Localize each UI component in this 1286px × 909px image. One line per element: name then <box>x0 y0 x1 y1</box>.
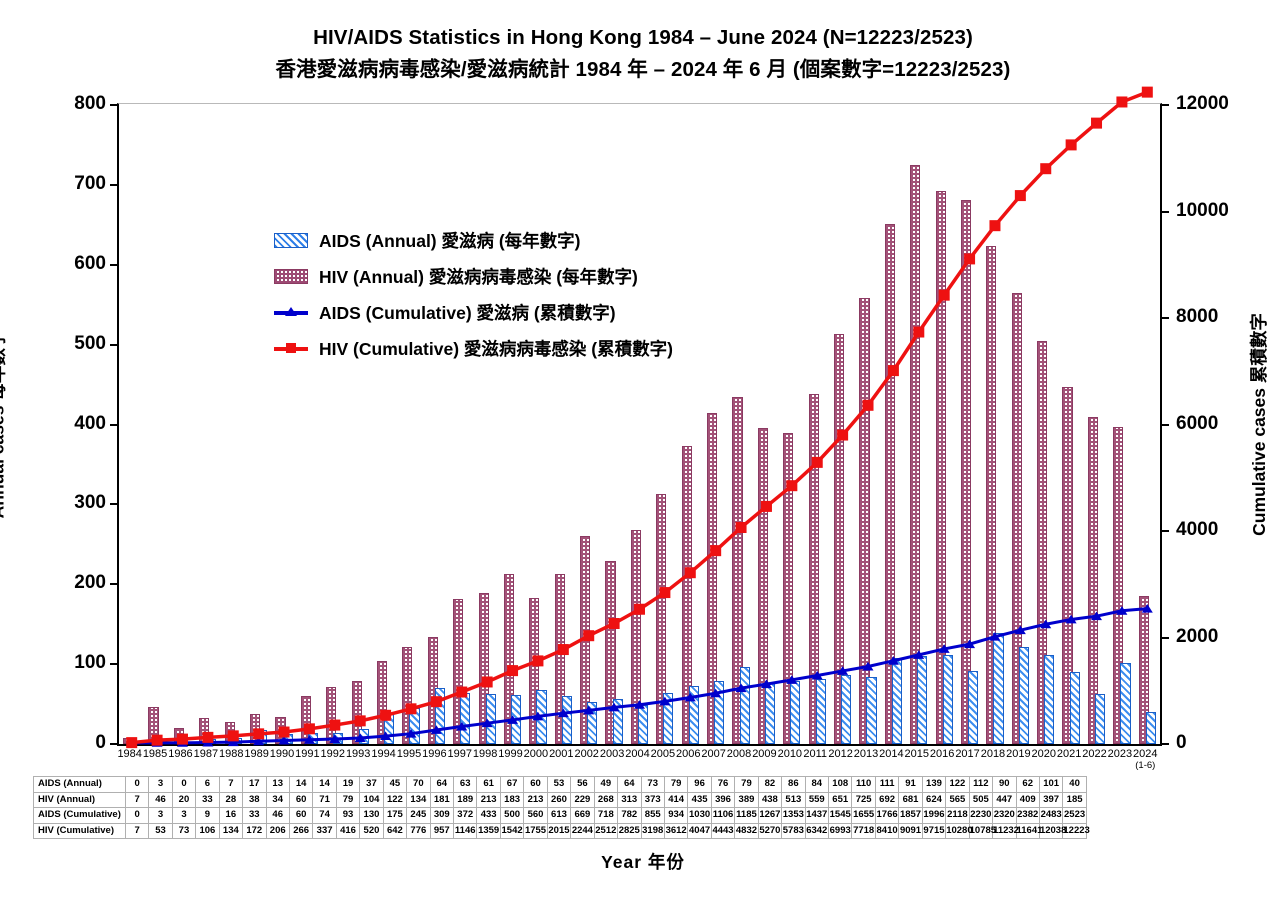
table-row: HIV (Cumulative)753731061341722062663374… <box>34 823 1087 839</box>
x-axis-tick-label: 2009 <box>752 748 777 760</box>
table-cell: 106 <box>196 823 219 839</box>
marker-hiv-cumulative <box>710 545 721 556</box>
table-cell: 1267 <box>758 808 781 824</box>
table-cell: 46 <box>149 792 172 808</box>
table-cell: 84 <box>805 777 828 793</box>
table-cell: 372 <box>454 808 477 824</box>
table-cell: 19 <box>336 777 359 793</box>
table-cell: 624 <box>922 792 945 808</box>
x-axis-tick-label: 1986 <box>168 748 193 760</box>
table-cell: 1542 <box>500 823 523 839</box>
table-cell: 134 <box>407 792 430 808</box>
marker-hiv-cumulative <box>761 501 772 512</box>
table-cell: 7 <box>125 823 148 839</box>
marker-hiv-cumulative <box>685 567 696 578</box>
lines-layer <box>119 104 1160 743</box>
table-cell: 3 <box>172 808 195 824</box>
x-axis-tick-label: 2005 <box>650 748 675 760</box>
marker-hiv-cumulative <box>888 365 899 376</box>
chart-legend: AIDS (Annual) 愛滋病 (每年數字)HIV (Annual) 愛滋病… <box>274 228 673 361</box>
table-cell: 63 <box>454 777 477 793</box>
table-cell: 2382 <box>1016 808 1039 824</box>
x-axis-tick-label: 2014 <box>879 748 904 760</box>
table-cell: 38 <box>243 792 266 808</box>
x-axis-tick-label: 2021 <box>1056 748 1081 760</box>
marker-hiv-cumulative <box>329 720 340 731</box>
table-cell: 505 <box>969 792 992 808</box>
table-cell: 245 <box>407 808 430 824</box>
table-cell: 73 <box>641 777 664 793</box>
legend-label: AIDS (Cumulative) 愛滋病 (累積數字) <box>319 300 616 325</box>
table-cell: 957 <box>430 823 453 839</box>
table-cell: 60 <box>524 777 547 793</box>
y-axis-right-tick: 6000 <box>1160 413 1260 435</box>
x-axis-tick-label: 1985 <box>142 748 167 760</box>
x-axis-tick-label: 2017 <box>955 748 980 760</box>
x-axis-tick-label: 2007 <box>701 748 726 760</box>
table-cell: 7 <box>125 792 148 808</box>
table-cell: 7718 <box>852 823 875 839</box>
y-axis-right-tick: 12000 <box>1160 93 1260 115</box>
table-row: HIV (Annual)7462033283834607179104122134… <box>34 792 1087 808</box>
table-cell: 651 <box>829 792 852 808</box>
table-cell: 33 <box>243 808 266 824</box>
marker-hiv-cumulative <box>355 715 366 726</box>
table-cell: 56 <box>571 777 594 793</box>
table-cell: 692 <box>875 792 898 808</box>
table-cell: 20 <box>172 792 195 808</box>
table-cell: 396 <box>711 792 734 808</box>
table-cell: 681 <box>899 792 922 808</box>
table-cell: 2230 <box>969 808 992 824</box>
marker-hiv-cumulative <box>1142 87 1153 98</box>
marker-hiv-cumulative <box>1116 96 1127 107</box>
table-cell: 213 <box>477 792 500 808</box>
table-cell: 1359 <box>477 823 500 839</box>
marker-hiv-cumulative <box>279 727 290 738</box>
table-cell: 71 <box>313 792 336 808</box>
table-cell: 17 <box>243 777 266 793</box>
table-cell: 934 <box>664 808 687 824</box>
x-axis-tick-label: 1992 <box>320 748 345 760</box>
table-cell: 2483 <box>1039 808 1062 824</box>
marker-hiv-cumulative <box>659 587 670 598</box>
table-cell: 0 <box>125 777 148 793</box>
table-cell: 175 <box>383 808 406 824</box>
table-cell: 90 <box>993 777 1016 793</box>
x-axis-tick-label: 2022 <box>1082 748 1107 760</box>
table-cell: 389 <box>735 792 758 808</box>
table-cell: 0 <box>172 777 195 793</box>
x-axis-tick-label: 2016 <box>929 748 954 760</box>
y-axis-left-tick: 800 <box>33 93 119 115</box>
table-cell: 373 <box>641 792 664 808</box>
table-cell: 45 <box>383 777 406 793</box>
table-cell: 642 <box>383 823 406 839</box>
marker-hiv-cumulative <box>558 644 569 655</box>
table-cell: 108 <box>829 777 852 793</box>
y-axis-left-tick: 400 <box>33 413 119 435</box>
table-cell: 565 <box>946 792 969 808</box>
table-cell: 101 <box>1039 777 1062 793</box>
x-axis-tick-labels: 1984198519861987198819891990199119921993… <box>117 748 1162 776</box>
table-cell: 416 <box>336 823 359 839</box>
table-cell: 776 <box>407 823 430 839</box>
table-cell: 1030 <box>688 808 711 824</box>
table-cell: 2015 <box>547 823 570 839</box>
x-axis-tick-label: 2012 <box>828 748 853 760</box>
table-cell: 500 <box>500 808 523 824</box>
table-cell: 433 <box>477 808 500 824</box>
table-cell: 513 <box>782 792 805 808</box>
table-cell: 76 <box>711 777 734 793</box>
x-axis-tick-label: 1989 <box>244 748 269 760</box>
marker-hiv-cumulative <box>482 676 493 687</box>
table-cell: 520 <box>360 823 383 839</box>
x-axis-tick-label: 1987 <box>193 748 218 760</box>
table-cell: 4832 <box>735 823 758 839</box>
table-cell: 1545 <box>829 808 852 824</box>
legend-label: HIV (Annual) 愛滋病病毒感染 (每年數字) <box>319 264 638 289</box>
y-axis-right-tick: 4000 <box>1160 519 1260 541</box>
marker-hiv-cumulative <box>634 604 645 615</box>
line-hiv-cumulative <box>132 92 1148 743</box>
table-cell: 669 <box>571 808 594 824</box>
legend-item-hiv-annual: HIV (Annual) 愛滋病病毒感染 (每年數字) <box>274 264 673 289</box>
table-cell: 79 <box>336 792 359 808</box>
table-cell: 53 <box>149 823 172 839</box>
x-axis-tick-label: 2011 <box>803 748 828 760</box>
table-cell: 3 <box>149 808 172 824</box>
table-cell: 4047 <box>688 823 711 839</box>
y-axis-left-label-text: Annual cases 每年數字 <box>0 331 10 519</box>
table-cell: 414 <box>664 792 687 808</box>
marker-hiv-cumulative <box>456 687 467 698</box>
table-cell: 447 <box>993 792 1016 808</box>
table-cell: 1996 <box>922 808 945 824</box>
table-cell: 64 <box>618 777 641 793</box>
x-axis-tick-label: 2004 <box>625 748 650 760</box>
marker-hiv-cumulative <box>609 618 620 629</box>
table-row: AIDS (Cumulative)03391633466074931301752… <box>34 808 1087 824</box>
table-cell: 1106 <box>711 808 734 824</box>
table-cell: 189 <box>454 792 477 808</box>
x-axis-tick-label: 1988 <box>219 748 244 760</box>
table-cell: 9 <box>196 808 219 824</box>
legend-item-aids-annual: AIDS (Annual) 愛滋病 (每年數字) <box>274 228 673 253</box>
marker-hiv-cumulative <box>1091 118 1102 129</box>
marker-hiv-cumulative <box>989 220 1000 231</box>
y-axis-right-tick: 10000 <box>1160 200 1260 222</box>
marker-hiv-cumulative <box>380 710 391 721</box>
x-axis-tick-label: 2023 <box>1107 748 1132 760</box>
purple-check-swatch <box>274 269 308 284</box>
table-cell: 5270 <box>758 823 781 839</box>
table-cell: 28 <box>219 792 242 808</box>
chart-title-block: HIV/AIDS Statistics in Hong Kong 1984 – … <box>0 24 1286 85</box>
table-cell: 134 <box>219 823 242 839</box>
marker-hiv-cumulative <box>736 522 747 533</box>
legend-label: HIV (Cumulative) 愛滋病病毒感染 (累積數字) <box>319 336 673 361</box>
y-axis-right-tick: 2000 <box>1160 626 1260 648</box>
y-axis-right-tick: 0 <box>1160 732 1260 754</box>
x-axis-tick-label: 1991 <box>295 748 320 760</box>
table-cell: 2825 <box>618 823 641 839</box>
table-cell: 266 <box>289 823 312 839</box>
x-axis-tick-label: 2001 <box>549 748 574 760</box>
marker-hiv-cumulative <box>431 696 442 707</box>
y-axis-left-tick: 100 <box>33 652 119 674</box>
x-axis-label: Year 年份 <box>0 849 1286 874</box>
table-cell: 79 <box>664 777 687 793</box>
table-cell: 139 <box>922 777 945 793</box>
marker-hiv-cumulative <box>913 327 924 338</box>
table-cell: 60 <box>289 808 312 824</box>
table-cell: 9091 <box>899 823 922 839</box>
x-axis-tick-label: 2013 <box>853 748 878 760</box>
table-cell: 112 <box>969 777 992 793</box>
x-axis-tick-label: 2002 <box>574 748 599 760</box>
table-cell: 559 <box>805 792 828 808</box>
table-cell: 60 <box>289 792 312 808</box>
table-cell: 10785 <box>969 823 992 839</box>
table-cell: 1655 <box>852 808 875 824</box>
table-cell: 10280 <box>946 823 969 839</box>
marker-hiv-cumulative <box>863 400 874 411</box>
table-cell: 74 <box>313 808 336 824</box>
table-cell: 12223 <box>1063 823 1086 839</box>
marker-hiv-cumulative <box>1040 163 1051 174</box>
table-cell: 309 <box>430 808 453 824</box>
marker-hiv-cumulative <box>507 665 518 676</box>
table-cell: 9715 <box>922 823 945 839</box>
marker-hiv-cumulative <box>126 737 137 748</box>
marker-hiv-cumulative <box>812 457 823 468</box>
table-cell: 725 <box>852 792 875 808</box>
table-cell: 7 <box>219 777 242 793</box>
marker-hiv-cumulative <box>532 655 543 666</box>
x-axis-tick-label: 1997 <box>447 748 472 760</box>
x-axis-tick-label: 2006 <box>676 748 701 760</box>
legend-item-aids-cumulative: AIDS (Cumulative) 愛滋病 (累積數字) <box>274 300 673 325</box>
x-axis-tick-label: 2018 <box>980 748 1005 760</box>
table-cell: 181 <box>430 792 453 808</box>
table-cell: 37 <box>360 777 383 793</box>
x-axis-tick-label: 2010 <box>777 748 802 760</box>
plot-frame: 0100200300400500600700800 02000400060008… <box>117 103 1162 746</box>
table-cell: 70 <box>407 777 430 793</box>
table-cell: 62 <box>1016 777 1039 793</box>
table-row-header: AIDS (Cumulative) <box>34 808 126 824</box>
table-cell: 560 <box>524 808 547 824</box>
x-axis-tick-label: 2008 <box>726 748 751 760</box>
table-cell: 13 <box>266 777 289 793</box>
table-cell: 1766 <box>875 808 898 824</box>
table-cell: 268 <box>594 792 617 808</box>
marker-hiv-cumulative <box>1066 139 1077 150</box>
blue-triangle-line <box>274 305 308 320</box>
y-axis-left-label: Annual cases 每年數字 <box>0 103 10 746</box>
x-axis-tick-label: 1990 <box>269 748 294 760</box>
table-cell: 206 <box>266 823 289 839</box>
table-cell: 34 <box>266 792 289 808</box>
marker-hiv-cumulative <box>1015 190 1026 201</box>
table-cell: 96 <box>688 777 711 793</box>
table-cell: 16 <box>219 808 242 824</box>
line-aids-cumulative <box>132 609 1148 743</box>
table-cell: 3 <box>149 777 172 793</box>
table-cell: 397 <box>1039 792 1062 808</box>
marker-hiv-cumulative <box>583 630 594 641</box>
table-cell: 130 <box>360 808 383 824</box>
marker-hiv-cumulative <box>253 728 264 739</box>
table-cell: 8410 <box>875 823 898 839</box>
table-cell: 5783 <box>782 823 805 839</box>
table-cell: 2244 <box>571 823 594 839</box>
x-axis-tick-label: 1999 <box>498 748 523 760</box>
table-cell: 1353 <box>782 808 805 824</box>
table-cell: 53 <box>547 777 570 793</box>
legend-square-marker <box>286 343 296 353</box>
table-cell: 11232 <box>993 823 1016 839</box>
table-cell: 64 <box>430 777 453 793</box>
table-cell: 40 <box>1063 777 1086 793</box>
marker-hiv-cumulative <box>202 732 213 743</box>
table-cell: 33 <box>196 792 219 808</box>
x-axis-tick-label: 1996 <box>422 748 447 760</box>
table-cell: 86 <box>782 777 805 793</box>
marker-hiv-cumulative <box>405 703 416 714</box>
table-cell: 438 <box>758 792 781 808</box>
table-cell: 337 <box>313 823 336 839</box>
table-cell: 93 <box>336 808 359 824</box>
marker-hiv-cumulative <box>786 480 797 491</box>
table-cell: 409 <box>1016 792 1039 808</box>
red-square-line <box>274 341 308 356</box>
y-axis-left-tick: 0 <box>33 732 119 754</box>
table-cell: 79 <box>735 777 758 793</box>
table-cell: 6993 <box>829 823 852 839</box>
x-axis-tick-label: 2024(1-6) <box>1133 748 1158 772</box>
table-cell: 183 <box>500 792 523 808</box>
table-row: AIDS (Annual)030671713141419374570646361… <box>34 777 1087 793</box>
legend-label: AIDS (Annual) 愛滋病 (每年數字) <box>319 228 581 253</box>
chart-page: HIV/AIDS Statistics in Hong Kong 1984 – … <box>0 0 1286 909</box>
page-title-chinese: 香港愛滋病病毒感染/愛滋病統計 1984 年 – 2024 年 6 月 (個案數… <box>0 55 1286 85</box>
table-cell: 3198 <box>641 823 664 839</box>
y-axis-left-tick: 200 <box>33 572 119 594</box>
table-cell: 104 <box>360 792 383 808</box>
table-row-header: HIV (Annual) <box>34 792 126 808</box>
table-cell: 82 <box>758 777 781 793</box>
data-table: AIDS (Annual)030671713141419374570646361… <box>33 776 1087 839</box>
x-axis-tick-label: 1984 <box>117 748 142 760</box>
table-cell: 2320 <box>993 808 1016 824</box>
x-axis-tick-label: 2003 <box>599 748 624 760</box>
table-cell: 14 <box>289 777 312 793</box>
legend-triangle-marker <box>285 307 297 316</box>
marker-hiv-cumulative <box>939 290 950 301</box>
table-row-header: HIV (Cumulative) <box>34 823 126 839</box>
table-cell: 11641 <box>1016 823 1039 839</box>
table-cell: 3612 <box>664 823 687 839</box>
x-axis-tick-label: 2019 <box>1006 748 1031 760</box>
marker-hiv-cumulative <box>837 430 848 441</box>
y-axis-left-tick: 700 <box>33 173 119 195</box>
marker-hiv-cumulative <box>177 734 188 745</box>
table-cell: 2512 <box>594 823 617 839</box>
table-cell: 229 <box>571 792 594 808</box>
table-cell: 1185 <box>735 808 758 824</box>
legend-item-hiv-cumulative: HIV (Cumulative) 愛滋病病毒感染 (累積數字) <box>274 336 673 361</box>
x-axis-tick-label: 1994 <box>371 748 396 760</box>
table-cell: 91 <box>899 777 922 793</box>
y-axis-left-tick: 300 <box>33 492 119 514</box>
table-cell: 49 <box>594 777 617 793</box>
x-axis-tick-label: 2015 <box>904 748 929 760</box>
table-cell: 6342 <box>805 823 828 839</box>
table-cell: 260 <box>547 792 570 808</box>
marker-hiv-cumulative <box>152 735 163 746</box>
marker-hiv-cumulative <box>304 723 315 734</box>
table-cell: 435 <box>688 792 711 808</box>
table-cell: 1857 <box>899 808 922 824</box>
table-cell: 6 <box>196 777 219 793</box>
table-cell: 2523 <box>1063 808 1086 824</box>
table-cell: 213 <box>524 792 547 808</box>
x-axis-tick-label: 1998 <box>472 748 497 760</box>
x-axis-tick-label: 1993 <box>346 748 371 760</box>
table-cell: 14 <box>313 777 336 793</box>
table-cell: 782 <box>618 808 641 824</box>
table-cell: 172 <box>243 823 266 839</box>
table-cell: 2118 <box>946 808 969 824</box>
table-cell: 855 <box>641 808 664 824</box>
y-axis-left-tick: 500 <box>33 333 119 355</box>
table-cell: 4443 <box>711 823 734 839</box>
table-cell: 613 <box>547 808 570 824</box>
x-axis-tick-label: 2000 <box>523 748 548 760</box>
marker-hiv-cumulative <box>228 730 239 741</box>
table-cell: 111 <box>875 777 898 793</box>
table-cell: 61 <box>477 777 500 793</box>
y-axis-left-tick: 600 <box>33 253 119 275</box>
table-cell: 185 <box>1063 792 1086 808</box>
table-cell: 110 <box>852 777 875 793</box>
table-cell: 73 <box>172 823 195 839</box>
table-cell: 67 <box>500 777 523 793</box>
table-cell: 12038 <box>1039 823 1062 839</box>
table-cell: 0 <box>125 808 148 824</box>
y-axis-right-tick: 8000 <box>1160 306 1260 328</box>
table-cell: 1437 <box>805 808 828 824</box>
table-cell: 1755 <box>524 823 547 839</box>
x-axis-tick-label: 1995 <box>396 748 421 760</box>
x-axis-tick-label: 2020 <box>1031 748 1056 760</box>
blue-hatch-swatch <box>274 233 308 248</box>
table-cell: 718 <box>594 808 617 824</box>
table-cell: 122 <box>946 777 969 793</box>
marker-hiv-cumulative <box>964 253 975 264</box>
page-title-english: HIV/AIDS Statistics in Hong Kong 1984 – … <box>0 24 1286 52</box>
plot-area <box>119 104 1160 744</box>
table-cell: 46 <box>266 808 289 824</box>
table-cell: 313 <box>618 792 641 808</box>
table-row-header: AIDS (Annual) <box>34 777 126 793</box>
table-cell: 1146 <box>454 823 477 839</box>
table-cell: 122 <box>383 792 406 808</box>
